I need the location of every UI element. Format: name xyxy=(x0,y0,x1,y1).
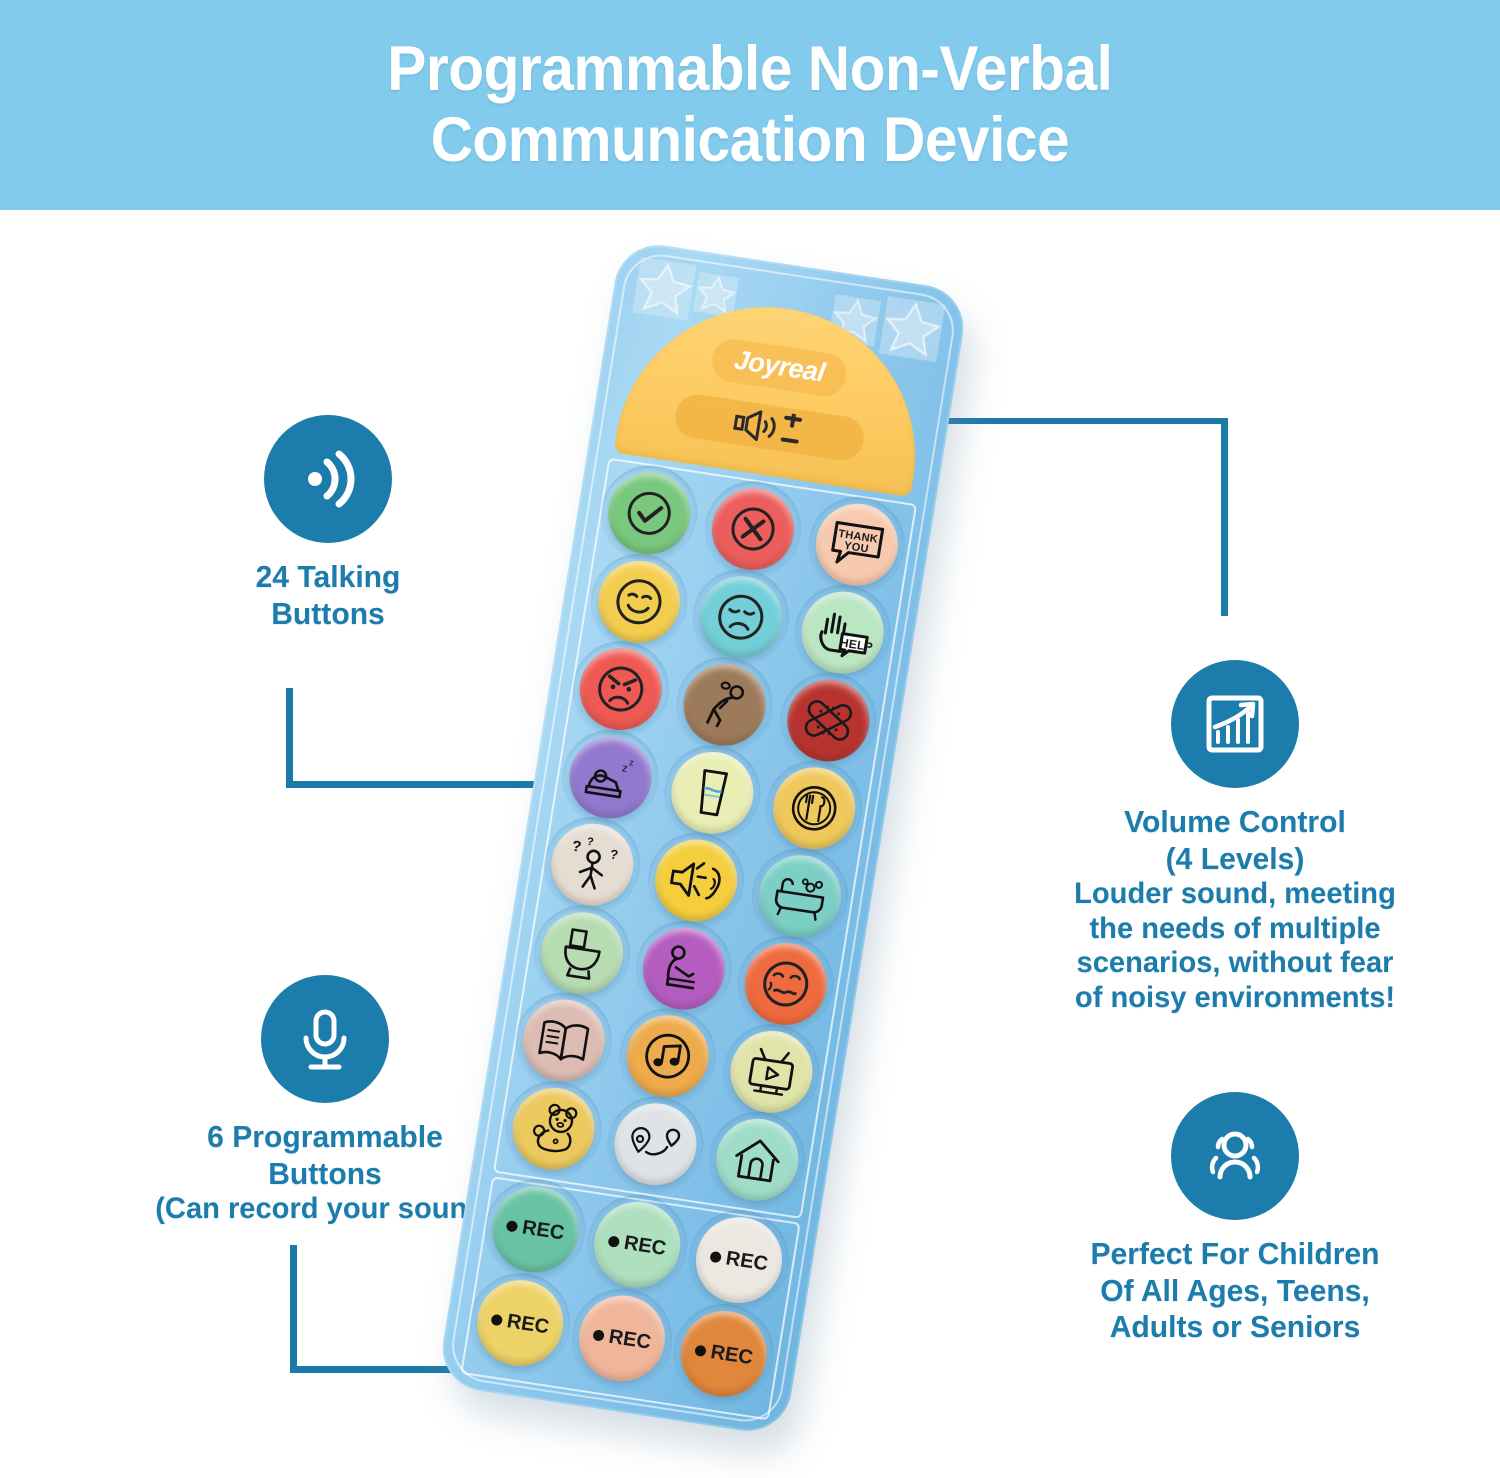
device-body: Joyreal xyxy=(436,239,970,1437)
sitting-person-button[interactable] xyxy=(637,922,731,1015)
confused-button[interactable]: ? ? ? xyxy=(545,818,639,911)
rec-label: REC xyxy=(591,1323,652,1354)
rec-label: REC xyxy=(708,1244,769,1275)
sound-wave-icon xyxy=(289,440,367,518)
bandage-cross-icon xyxy=(797,690,859,751)
happy-face-button[interactable] xyxy=(592,555,686,648)
bathtub-icon xyxy=(767,868,832,924)
record-dot-icon xyxy=(694,1344,707,1357)
sleeping-person-icon: z z xyxy=(579,748,643,808)
loud-sound-button[interactable] xyxy=(649,834,743,927)
record-dot-icon xyxy=(607,1235,620,1248)
eat-food-button[interactable] xyxy=(767,762,861,855)
record-button-4[interactable]: REC xyxy=(471,1274,570,1372)
brand-logo: Joyreal xyxy=(709,336,849,399)
water-glass-icon xyxy=(686,763,738,823)
sad-face-icon xyxy=(710,586,772,647)
people-group-icon xyxy=(1196,1117,1274,1195)
no-cross-button[interactable] xyxy=(706,482,800,575)
yes-check-button[interactable] xyxy=(602,467,696,560)
music-note-icon xyxy=(637,1025,699,1086)
confused-person-icon: ? ? ? xyxy=(560,834,624,896)
help-label: HELP xyxy=(839,636,867,652)
button-grid: THANK YOU xyxy=(469,467,904,1412)
rec-label: REC xyxy=(505,1214,566,1245)
callout-title-volume: Volume Control (4 Levels) xyxy=(1007,804,1463,877)
angry-face-button[interactable] xyxy=(574,642,668,735)
record-dot-icon xyxy=(490,1313,503,1326)
rec-label: REC xyxy=(489,1307,550,1338)
stomach-ache-button[interactable] xyxy=(677,658,771,751)
teddy-bear-icon xyxy=(522,1099,586,1159)
rec-label: REC xyxy=(606,1229,667,1260)
map-route-icon xyxy=(624,1117,687,1171)
speech-bubble-icon: THANK YOU xyxy=(824,516,889,574)
record-button-1[interactable]: REC xyxy=(486,1180,585,1278)
header-banner: Programmable Non-Verbal Communication De… xyxy=(0,0,1500,210)
sleep-button[interactable]: z z xyxy=(563,731,657,824)
plate-cutlery-icon xyxy=(783,778,845,839)
toilet-icon xyxy=(553,922,611,985)
record-button-3[interactable]: REC xyxy=(690,1211,789,1309)
svg-text:?: ? xyxy=(609,846,619,862)
callout-title-audience: Perfect For Children Of All Ages, Teens,… xyxy=(1007,1236,1463,1346)
callout-sub-volume: Louder sound, meeting the needs of multi… xyxy=(1007,877,1463,1015)
check-circle-icon xyxy=(619,484,679,543)
record-button-6[interactable]: REC xyxy=(674,1305,773,1403)
microphone-badge xyxy=(261,975,389,1103)
house-icon xyxy=(727,1131,788,1188)
drink-water-button[interactable] xyxy=(665,746,759,839)
volume-control-button[interactable] xyxy=(672,391,867,463)
speaker-volume-icon xyxy=(730,405,809,450)
rec-label: REC xyxy=(693,1338,754,1369)
record-dot-icon xyxy=(592,1329,605,1342)
teddy-bear-button[interactable] xyxy=(506,1082,600,1175)
sick-person-icon xyxy=(692,673,756,737)
hurt-bandage-button[interactable] xyxy=(781,674,875,767)
people-group-badge xyxy=(1171,1092,1299,1220)
growth-chart-badge xyxy=(1171,660,1299,788)
record-button-2[interactable]: REC xyxy=(588,1196,687,1294)
growth-chart-icon xyxy=(1196,685,1274,763)
star-emboss-4 xyxy=(879,296,946,362)
music-button[interactable] xyxy=(621,1010,715,1103)
cross-circle-icon xyxy=(723,499,783,558)
toilet-button[interactable] xyxy=(535,907,629,1000)
sitting-person-icon xyxy=(652,939,716,999)
happy-face-icon xyxy=(608,571,670,632)
tv-button[interactable] xyxy=(724,1025,818,1118)
star-emboss-1 xyxy=(632,256,696,320)
record-dot-icon xyxy=(709,1250,722,1263)
television-icon xyxy=(740,1042,804,1102)
sound-wave-badge xyxy=(264,415,392,543)
loud-ear-icon xyxy=(664,852,729,908)
microphone-icon xyxy=(286,1000,364,1078)
angry-face-icon xyxy=(590,658,652,719)
record-button-5[interactable]: REC xyxy=(573,1290,672,1388)
read-book-button[interactable] xyxy=(517,994,611,1087)
svg-text:?: ? xyxy=(571,838,583,856)
product-device: Joyreal xyxy=(455,248,1075,1478)
page-title: Programmable Non-Verbal Communication De… xyxy=(387,34,1112,175)
svg-text:?: ? xyxy=(586,836,595,849)
go-out-button[interactable] xyxy=(608,1098,702,1191)
worried-face-button[interactable] xyxy=(739,937,833,1030)
home-button[interactable] xyxy=(710,1113,804,1206)
raised-hand-icon: HELP xyxy=(810,602,876,664)
thank-you-button[interactable]: THANK YOU xyxy=(810,498,904,591)
sad-face-button[interactable] xyxy=(694,571,788,664)
open-book-icon xyxy=(532,1013,595,1069)
svg-text:z: z xyxy=(621,762,628,775)
record-dot-icon xyxy=(506,1220,519,1233)
help-hand-button[interactable]: HELP xyxy=(796,586,890,679)
svg-text:z: z xyxy=(628,757,635,768)
worried-face-icon xyxy=(755,953,817,1014)
bath-button[interactable] xyxy=(753,850,847,943)
